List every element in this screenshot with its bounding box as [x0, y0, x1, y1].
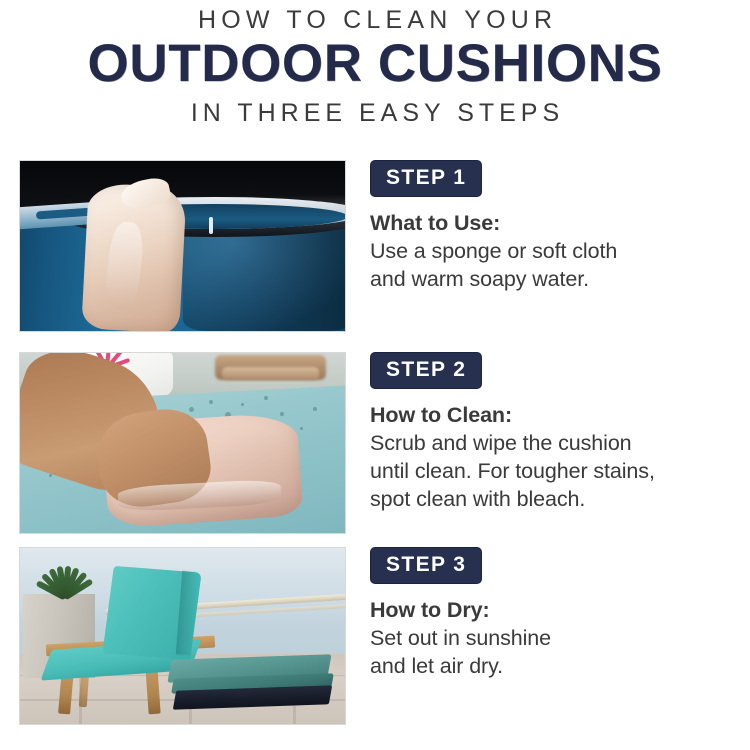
infographic-page: HOW TO CLEAN YOUR OUTDOOR CUSHIONS IN TH… — [0, 0, 750, 750]
step-3-heading: How to Dry: — [370, 597, 738, 624]
step-2-text-column: STEP 2 How to Clean: Scrub and wipe the … — [370, 352, 738, 513]
page-title: OUTDOOR CUSHIONS — [0, 35, 750, 93]
step-1-body: Use a sponge or soft cloth and warm soap… — [370, 237, 738, 293]
step-3-text-column: STEP 3 How to Dry: Set out in sunshine a… — [370, 547, 738, 680]
step-3-photo — [19, 547, 346, 725]
wood-furniture-blur-2 — [222, 367, 320, 380]
step-row-1: STEP 1 What to Use: Use a sponge or soft… — [0, 160, 750, 332]
bucket-rim-notch — [209, 217, 214, 234]
header-line-3: IN THREE EASY STEPS — [0, 99, 750, 127]
step-3-badge: STEP 3 — [370, 547, 482, 584]
step-1-heading: What to Use: — [370, 210, 738, 237]
step-2-heading: How to Clean: — [370, 402, 738, 429]
step-1-text-column: STEP 1 What to Use: Use a sponge or soft… — [370, 160, 738, 293]
step-1-badge: STEP 1 — [370, 160, 482, 197]
header: HOW TO CLEAN YOUR OUTDOOR CUSHIONS IN TH… — [0, 0, 750, 150]
step-row-2: STEP 2 How to Clean: Scrub and wipe the … — [0, 352, 750, 534]
header-line-1: HOW TO CLEAN YOUR — [0, 6, 750, 34]
step-2-photo — [19, 352, 346, 534]
step-2-body: Scrub and wipe the cushion until clean. … — [370, 429, 738, 513]
step-3-body: Set out in sunshine and let air dry. — [370, 624, 738, 680]
stacked-cushions — [170, 657, 339, 713]
step-1-photo — [19, 160, 346, 332]
agave-plant-icon — [30, 548, 95, 601]
stacked-cushion-base — [172, 685, 332, 710]
step-row-3: STEP 3 How to Dry: Set out in sunshine a… — [0, 547, 750, 725]
step-2-badge: STEP 2 — [370, 352, 482, 389]
